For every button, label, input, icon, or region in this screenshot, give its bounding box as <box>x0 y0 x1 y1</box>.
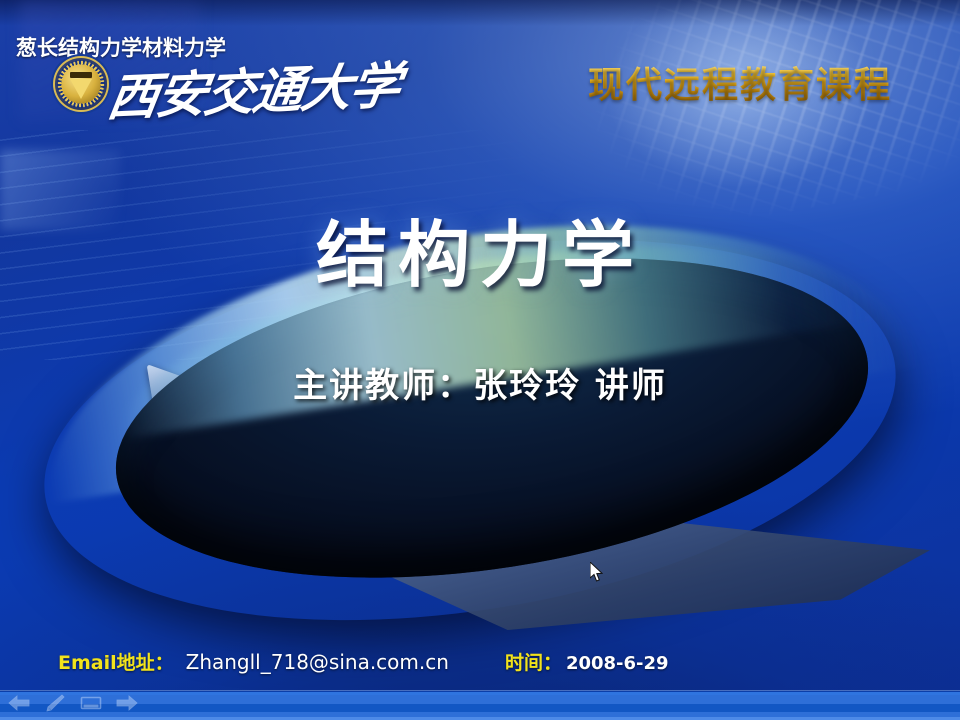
presentation-slide[interactable]: 葱长结构力学材料力学 西安交通大学 现代远程教育课程 结构力学 主讲教师：张玲玲… <box>0 0 960 690</box>
university-wordmark: 西安交通大学 <box>103 46 404 130</box>
date-label: 时间： <box>505 648 562 675</box>
slide-footer: Email地址： Zhangll_718@sina.com.cn 时间： 200… <box>58 648 669 675</box>
email-value: Zhangll_718@sina.com.cn <box>186 650 449 674</box>
slide-main-title: 结构力学 <box>0 196 960 301</box>
pen-icon[interactable] <box>42 693 68 713</box>
next-slide-icon[interactable] <box>114 693 140 713</box>
email-label: Email地址： <box>58 648 174 675</box>
previous-slide-icon[interactable] <box>6 693 32 713</box>
satellite-dish-graphic <box>40 250 940 650</box>
university-emblem-icon <box>55 58 107 110</box>
date-value: 2008-6-29 <box>566 653 669 674</box>
slideshow-taskbar <box>0 690 960 720</box>
lecturer-line: 主讲教师：张玲玲 讲师 <box>0 358 960 407</box>
menu-icon[interactable] <box>78 693 104 713</box>
course-banner-title: 现代远程教育课程 <box>588 56 892 108</box>
emblem-outer-ring <box>55 58 107 110</box>
screen: 葱长结构力学材料力学 西安交通大学 现代远程教育课程 结构力学 主讲教师：张玲玲… <box>0 0 960 720</box>
slideshow-controls <box>6 693 140 713</box>
